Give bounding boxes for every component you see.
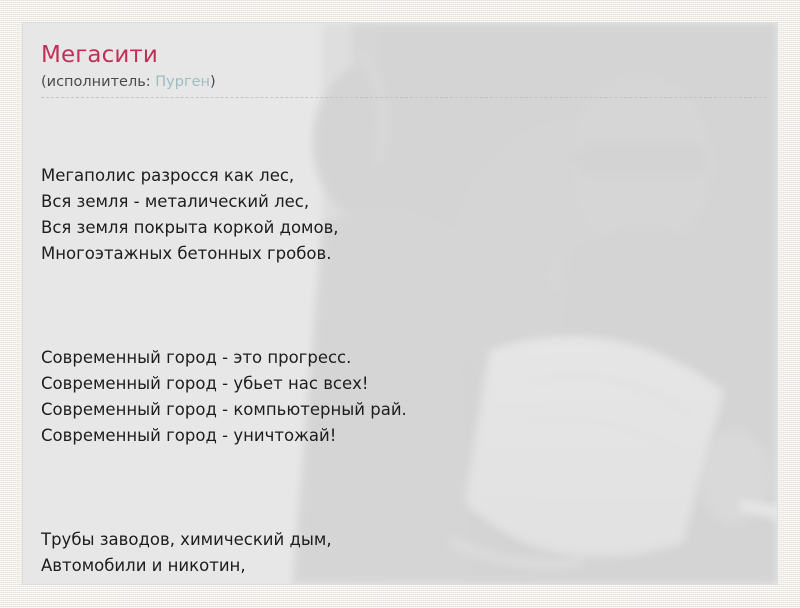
artist-line: (исполнитель: Пурген) xyxy=(41,72,757,92)
artist-suffix-label: ) xyxy=(210,74,216,90)
lyrics-body: Мегаполис разросся как лес, Вся земля - … xyxy=(41,111,757,585)
title-divider xyxy=(41,97,767,98)
artist-link[interactable]: Пурген xyxy=(155,74,210,90)
lyrics-stanza: Современный город - это прогресс. Соврем… xyxy=(41,345,757,449)
card-content: Мегасити (исполнитель: Пурген) Мегаполис… xyxy=(23,23,777,585)
artist-prefix-label: (исполнитель: xyxy=(41,74,155,90)
lyrics-card: Мегасити (исполнитель: Пурген) Мегаполис… xyxy=(22,22,778,585)
lyrics-stanza: Трубы заводов, химический дым, Автомобил… xyxy=(41,527,757,585)
lyrics-stanza: Мегаполис разросся как лес, Вся земля - … xyxy=(41,163,757,267)
page-title: Мегасити xyxy=(41,41,757,69)
